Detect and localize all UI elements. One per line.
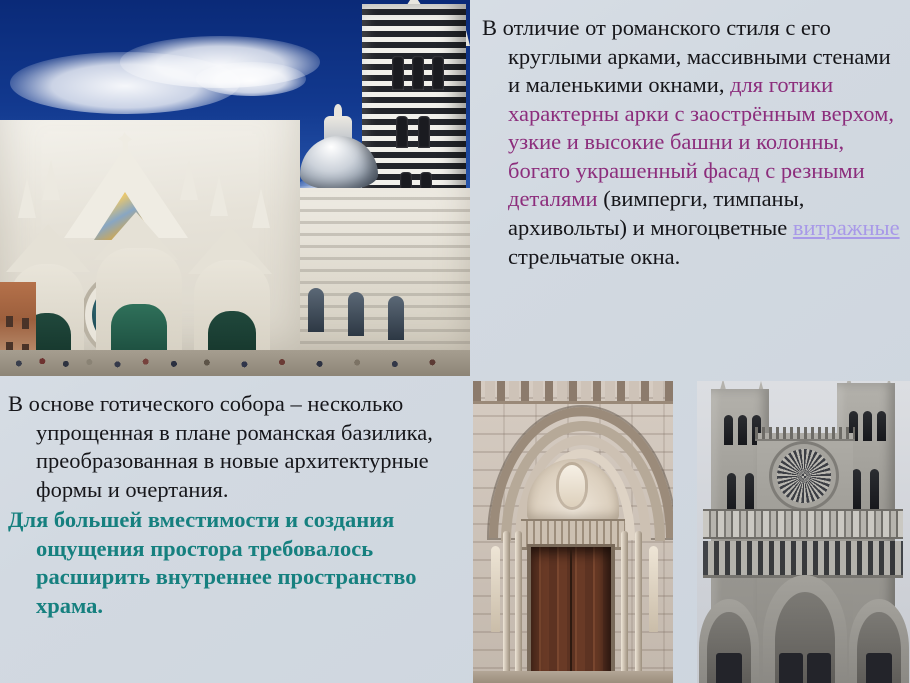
- cloud-shape: [120, 36, 320, 88]
- image-amiens-cathedral: [697, 381, 910, 683]
- tympanum-mandorla-figure: [559, 465, 585, 507]
- cloud-shape: [10, 52, 240, 114]
- presentation-slide: В отличие от романского стиля с его круг…: [0, 0, 910, 683]
- portal-ground: [473, 671, 673, 683]
- portal-corbel-frieze: [473, 381, 673, 404]
- paragraph-gothic-features: В отличие от романского стиля с его круг…: [482, 14, 900, 271]
- crowd-of-people: [0, 348, 470, 370]
- portal-wooden-door: [531, 547, 611, 683]
- amiens-rose-window: [777, 449, 831, 503]
- siena-facade: [0, 120, 300, 376]
- image-siena-cathedral: [0, 0, 470, 376]
- amiens-balustrade: [755, 427, 855, 441]
- facade-pinnacle: [42, 160, 60, 200]
- text-block-gothic-description: В отличие от романского стиля с его круг…: [482, 14, 900, 271]
- paragraph-basilica-plan: В основе готического собора – несколько …: [8, 390, 456, 504]
- text-block-basilica-description: В основе готического собора – несколько …: [8, 390, 456, 621]
- amiens-gallery-of-kings: [703, 509, 903, 539]
- facade-pinnacle: [180, 160, 198, 200]
- image-gothic-portal: [473, 381, 673, 683]
- portal-jamb-column: [515, 531, 522, 683]
- portal-door: [866, 653, 892, 683]
- jamb-statue: [649, 546, 658, 632]
- portal-door: [779, 653, 803, 683]
- jamb-statue: [491, 546, 500, 632]
- portal-jamb-column: [503, 531, 510, 683]
- portal-jamb-column: [621, 531, 628, 683]
- hyperlink-vitrazhnye[interactable]: витражные: [793, 215, 900, 240]
- amiens-blind-arcade: [703, 541, 903, 578]
- facade-pinnacle: [252, 188, 270, 228]
- cloud-shape: [196, 62, 306, 96]
- portal-door: [807, 653, 831, 683]
- text-segment-black-3: стрельчатые окна.: [508, 244, 680, 269]
- portal-jamb-column: [635, 531, 642, 683]
- facade-pinnacle: [18, 178, 36, 218]
- portal-door: [716, 653, 742, 683]
- paragraph-interior-space: Для большей вместимости и создания ощуще…: [8, 506, 456, 620]
- facade-pinnacle: [210, 176, 228, 216]
